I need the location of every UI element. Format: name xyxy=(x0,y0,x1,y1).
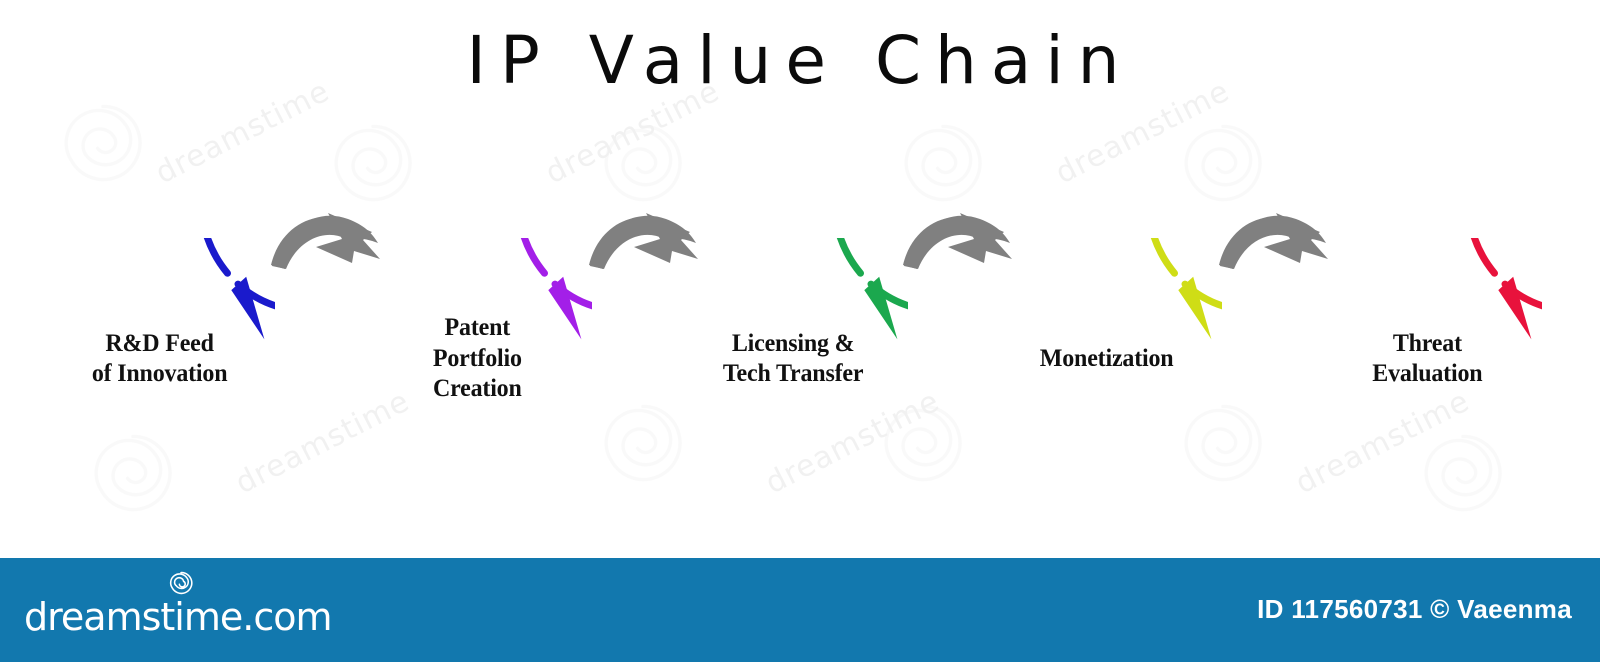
process-step-1[interactable]: R&D Feedof Innovation xyxy=(45,238,275,480)
screenshot-root: dreamstimedreamstimedreamstimedreamstime… xyxy=(0,0,1600,662)
page-title: IP Value Chain xyxy=(0,28,1600,94)
footer-bar: dreamstime.com ID 117560731 © Vaeenma xyxy=(0,558,1600,662)
process-step-4[interactable]: Monetization xyxy=(992,238,1222,480)
curved-arrow-right-icon xyxy=(268,203,388,287)
process-step-label: PatentPortfolioCreation xyxy=(366,238,588,480)
dreamstime-logo[interactable]: dreamstime.com xyxy=(24,584,331,636)
process-step-3[interactable]: Licensing &Tech Transfer xyxy=(678,238,908,480)
process-step-2[interactable]: PatentPortfolioCreation xyxy=(362,238,592,480)
spiral-icon xyxy=(168,570,194,596)
process-step-label: ThreatEvaluation xyxy=(1316,238,1538,480)
process-step-label: R&D Feedof Innovation xyxy=(49,238,271,480)
curved-arrow-right-icon xyxy=(1216,203,1336,287)
process-step-5[interactable]: ThreatEvaluation xyxy=(1312,238,1542,480)
curved-arrow-right-icon xyxy=(586,203,706,287)
process-step-label: Licensing &Tech Transfer xyxy=(682,238,904,480)
image-id-credit: ID 117560731 © Vaeenma xyxy=(1257,594,1572,625)
dreamstime-logo-text: dreamstime.com xyxy=(24,598,331,636)
curved-arrow-right-icon xyxy=(900,203,1020,287)
process-step-label: Monetization xyxy=(996,238,1218,480)
